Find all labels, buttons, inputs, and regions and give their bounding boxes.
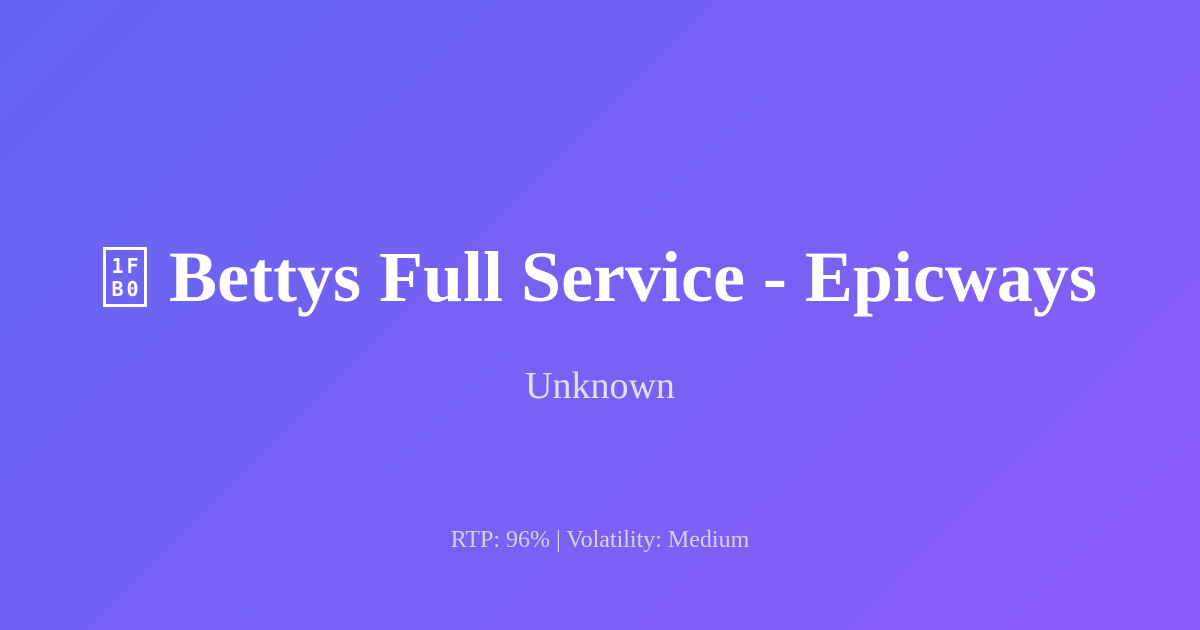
tofu-digit-4: 0 — [127, 279, 139, 299]
og-share-card: 1 F B 0 Bettys Full Service - Epicways U… — [0, 0, 1200, 630]
page-subtitle: Unknown — [0, 364, 1200, 410]
page-title-label: Bettys Full Service - Epicways — [169, 241, 1097, 313]
game-stats-line: RTP: 96% | Volatility: Medium — [0, 526, 1200, 555]
tofu-digit-2: F — [127, 256, 139, 276]
page-title: 1 F B 0 Bettys Full Service - Epicways — [103, 241, 1097, 313]
tofu-digit-1: 1 — [112, 256, 124, 276]
slot-machine-emoji-tofu-icon: 1 F B 0 — [103, 247, 147, 307]
page-title-row: 1 F B 0 Bettys Full Service - Epicways — [0, 232, 1200, 322]
tofu-digit-3: B — [112, 279, 124, 299]
